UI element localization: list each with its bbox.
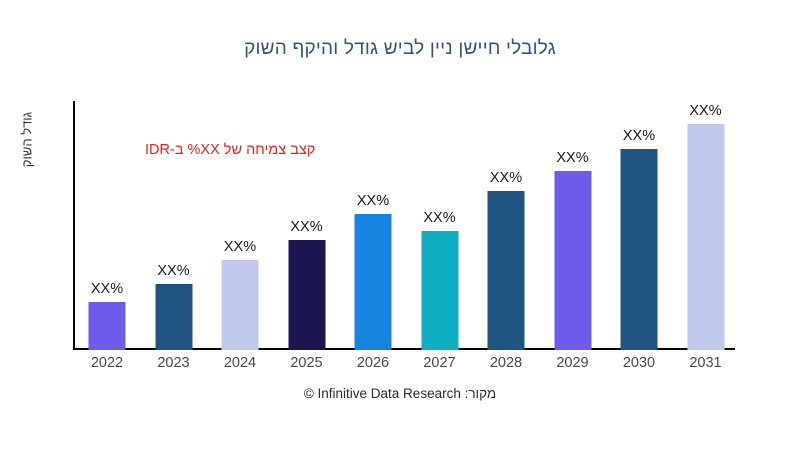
bar-2023[interactable] xyxy=(155,284,192,350)
x-tick-2029: 2029 xyxy=(539,355,607,371)
x-tick-2024: 2024 xyxy=(206,355,274,371)
bar-slot: XX% xyxy=(140,100,208,350)
bar-2030[interactable] xyxy=(621,149,658,350)
chart-title: גלובלי חיישן ניין לביש גודל והיקף השוק xyxy=(0,38,800,60)
x-tick-2031: 2031 xyxy=(672,355,740,371)
bar-slot: XX% xyxy=(206,100,274,350)
bar-2028[interactable] xyxy=(488,191,525,350)
chart-container: גלובלי חיישן ניין לביש גודל והיקף השוק ג… xyxy=(0,0,800,450)
bar-slot: XX% xyxy=(273,100,341,350)
bar-slot: XX% xyxy=(605,100,673,350)
bar-slot: XX% xyxy=(472,100,540,350)
x-tick-2028: 2028 xyxy=(472,355,540,371)
bar-slot: XX% xyxy=(73,100,141,350)
x-tick-2030: 2030 xyxy=(605,355,673,371)
bar-2026[interactable] xyxy=(355,214,392,350)
bar-value-label-2025: XX% xyxy=(273,219,341,235)
bar-value-label-2031: XX% xyxy=(672,103,740,119)
bar-value-label-2027: XX% xyxy=(406,210,474,226)
bar-value-label-2026: XX% xyxy=(339,193,407,209)
bar-2029[interactable] xyxy=(554,171,591,350)
x-tick-2025: 2025 xyxy=(273,355,341,371)
bar-2022[interactable] xyxy=(89,302,126,350)
bar-value-label-2030: XX% xyxy=(605,128,673,144)
bar-2024[interactable] xyxy=(222,260,259,350)
bar-value-label-2028: XX% xyxy=(472,170,540,186)
bar-slot: XX% xyxy=(406,100,474,350)
bar-2025[interactable] xyxy=(288,240,325,350)
bar-value-label-2023: XX% xyxy=(140,263,208,279)
bars-layer: XX%XX%XX%XX%XX%XX%XX%XX%XX%XX% xyxy=(73,100,800,350)
bar-2027[interactable] xyxy=(421,231,458,350)
x-tick-2023: 2023 xyxy=(140,355,208,371)
source-note: מקור: Infinitive Data Research © xyxy=(0,386,800,401)
x-tick-2022: 2022 xyxy=(73,355,141,371)
bar-value-label-2024: XX% xyxy=(206,239,274,255)
bar-value-label-2022: XX% xyxy=(73,281,141,297)
x-tick-2026: 2026 xyxy=(339,355,407,371)
y-axis-label: גודל השוק xyxy=(20,85,35,195)
bar-value-label-2029: XX% xyxy=(539,150,607,166)
bar-2031[interactable] xyxy=(687,124,724,350)
bar-slot: XX% xyxy=(672,100,740,350)
bar-slot: XX% xyxy=(339,100,407,350)
bar-slot: XX% xyxy=(539,100,607,350)
x-tick-2027: 2027 xyxy=(406,355,474,371)
